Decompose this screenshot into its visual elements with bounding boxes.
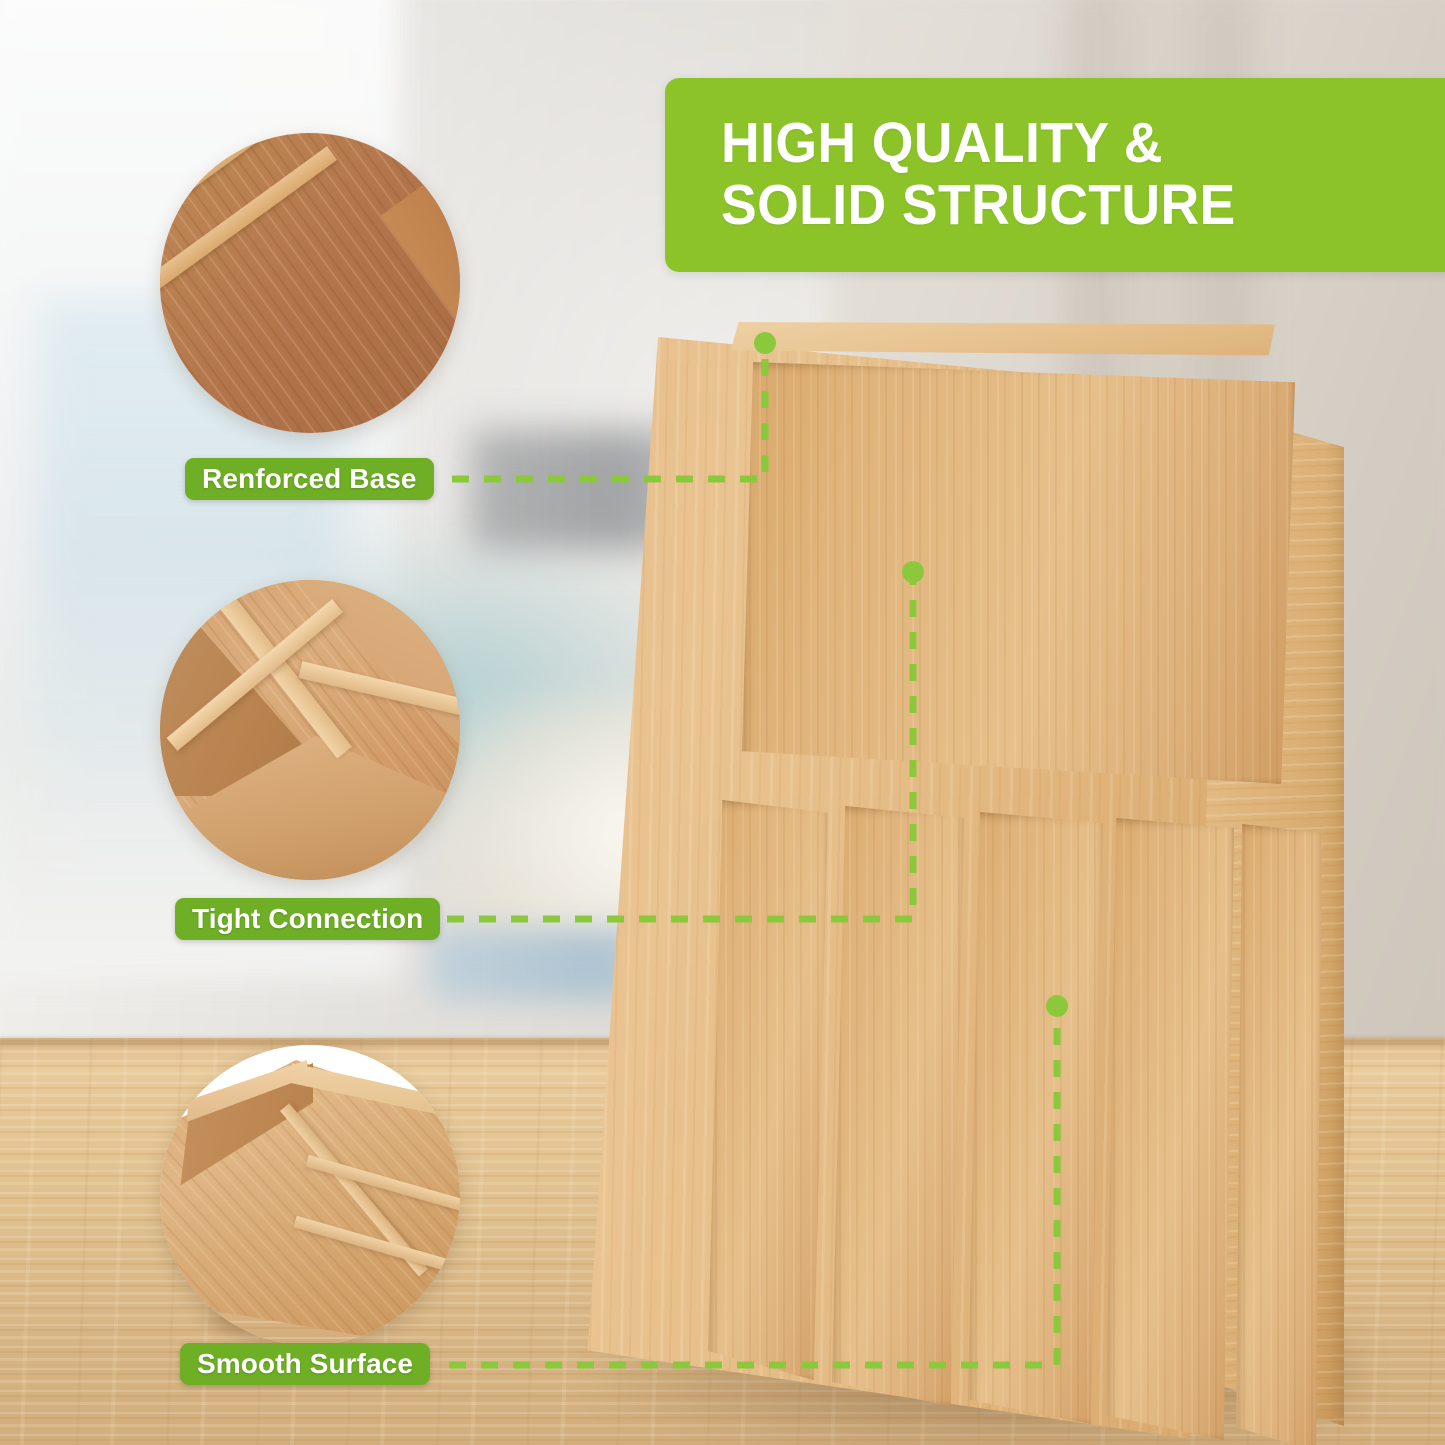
headline-banner: HIGH QUALITY & SOLID STRUCTURE — [665, 78, 1445, 272]
callout-label-text: Smooth Surface — [197, 1348, 413, 1380]
product-tray — [560, 300, 1440, 1445]
callout-label-text: Tight Connection — [192, 903, 423, 935]
detail-inset-tight-connection — [160, 580, 460, 880]
callout-label-tight-connection: Tight Connection — [175, 898, 440, 940]
detail-inset-reinforced-base — [160, 133, 460, 433]
callout-label-smooth-surface: Smooth Surface — [180, 1343, 430, 1385]
scene-stage: Renforced Base Tight Connection Smooth S… — [0, 0, 1445, 1445]
callout-label-text: Renforced Base — [202, 463, 417, 495]
callout-label-reinforced-base: Renforced Base — [185, 458, 434, 500]
tray-front-face — [578, 320, 1218, 1445]
detail-inset-smooth-surface — [160, 1045, 460, 1345]
headline-text: HIGH QUALITY & SOLID STRUCTURE — [721, 113, 1236, 236]
